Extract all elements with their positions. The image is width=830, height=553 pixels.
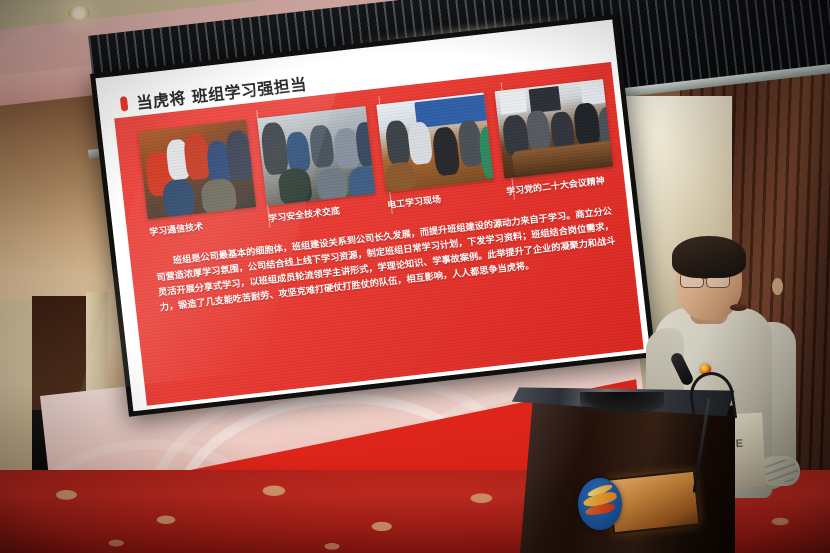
figure-shape [385, 161, 416, 192]
figure-shape [308, 124, 335, 168]
presenter-ear [772, 278, 783, 295]
figure-shape [200, 177, 238, 215]
figure-shape [315, 167, 348, 202]
figure-shape [384, 120, 411, 166]
photo-cell: 学习党的二十大会议精神 [495, 79, 615, 199]
wall-poster [499, 90, 527, 115]
figure-shape [277, 167, 313, 206]
figure-shape [573, 102, 602, 146]
podium-notch [580, 392, 664, 414]
downlight-icon [68, 6, 90, 20]
photo-thumbnail[interactable] [495, 79, 613, 179]
figure-shape [347, 165, 375, 198]
presenter-cuff [760, 456, 800, 486]
figure-shape [406, 121, 433, 165]
slide-red-panel: 学习通信技术 [114, 62, 644, 406]
figure-shape [525, 109, 551, 151]
photo-thumbnail[interactable] [257, 106, 375, 206]
figure-shape [431, 126, 460, 176]
photo-cell: 学习通信技术 [138, 120, 258, 240]
photo-caption: 电工学习现场 [387, 189, 496, 212]
photo-caption: 学习安全技术交底 [268, 202, 377, 225]
photo-caption: 学习党的二十大会议精神 [506, 175, 615, 198]
wall-poster [580, 80, 610, 105]
photo-thumbnail[interactable] [376, 93, 494, 193]
figure-shape [260, 121, 290, 175]
display-screen [529, 86, 562, 113]
photo-cell: 电工学习现场 [376, 93, 496, 213]
figure-shape [477, 125, 494, 179]
conference-photo-scene: 当虎将 班组学习强担当 [0, 0, 830, 553]
blue-oval-wave-logo-icon [578, 478, 622, 530]
equipment-panel [414, 94, 494, 129]
led-screen[interactable]: 当虎将 班组学习强担当 [96, 20, 651, 412]
figure-shape [285, 131, 311, 173]
presenter-hair [672, 236, 746, 278]
led-screen-frame: 当虎将 班组学习强担当 [90, 14, 656, 417]
photo-caption: 学习通信技术 [149, 216, 258, 239]
title-bullet-icon [120, 95, 129, 111]
presentation-slide: 当虎将 班组学习强担当 [96, 20, 651, 412]
photo-cell: 学习安全技术交底 [257, 106, 377, 226]
figure-shape [162, 178, 196, 217]
photo-thumbnail[interactable] [138, 120, 256, 220]
presenter-mouth [730, 304, 747, 311]
